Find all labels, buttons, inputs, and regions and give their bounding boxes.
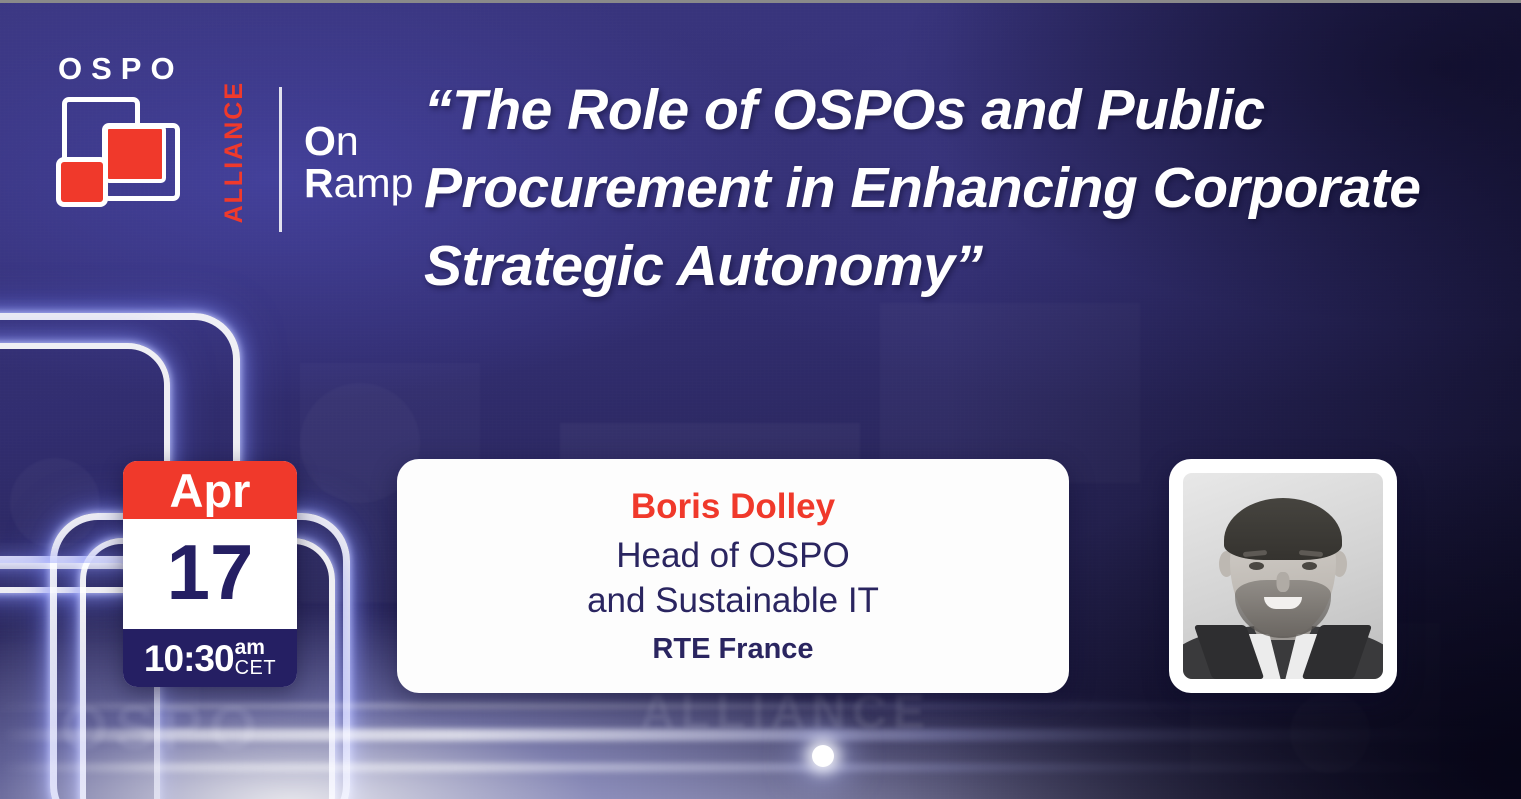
speaker-info-card: Boris Dolley Head of OSPO and Sustainabl… — [397, 459, 1069, 693]
time-suffix-stack: am CET — [235, 637, 277, 680]
speaker-name: Boris Dolley — [631, 486, 835, 528]
date-day: 17 — [123, 519, 297, 629]
event-time: 10:30 — [144, 640, 234, 677]
time-ampm: am — [235, 637, 265, 658]
portrait-mouth — [1264, 597, 1302, 609]
on-ramp-n: n — [336, 118, 359, 164]
portrait-eye-right — [1302, 562, 1317, 570]
event-title: “The Role of OSPOs and Public Procuremen… — [424, 71, 1424, 305]
speaker-photo — [1183, 473, 1383, 679]
speaker-role-line-1: Head of OSPO — [587, 534, 879, 579]
event-banner: OSPO ALLIANCE OSPO ALLIANCE On Ramp “The… — [0, 0, 1521, 799]
ospo-squares-icon — [56, 95, 184, 211]
event-date-card: Apr 17 10:30 am CET — [123, 461, 297, 687]
date-time-bar: 10:30 am CET — [123, 629, 297, 687]
logo-square-red-small — [56, 157, 108, 207]
on-ramp-line-1: On — [304, 121, 413, 163]
portrait-nose — [1277, 572, 1290, 592]
speaker-role-line-2: and Sustainable IT — [587, 579, 879, 624]
time-timezone: CET — [235, 658, 277, 678]
ospo-alliance-logo[interactable]: OSPO ALLIANCE On Ramp — [48, 43, 378, 223]
logo-alliance-wordmark: ALLIANCE — [220, 81, 249, 223]
logo-ospo-wordmark: OSPO — [58, 51, 184, 87]
speaker-role: Head of OSPO and Sustainable IT — [587, 534, 879, 624]
speaker-photo-frame — [1169, 459, 1397, 693]
on-ramp-wordmark: On Ramp — [304, 121, 413, 205]
speaker-organization: RTE France — [652, 633, 813, 666]
on-ramp-o: O — [304, 118, 336, 164]
portrait-eye-left — [1249, 562, 1264, 570]
logo-square-red-large — [104, 125, 166, 183]
on-ramp-r: R — [304, 160, 334, 206]
date-month: Apr — [123, 461, 297, 519]
on-ramp-amp: amp — [334, 160, 414, 206]
portrait-hair — [1224, 498, 1342, 560]
on-ramp-line-2: Ramp — [304, 163, 413, 205]
logo-divider — [279, 87, 282, 232]
